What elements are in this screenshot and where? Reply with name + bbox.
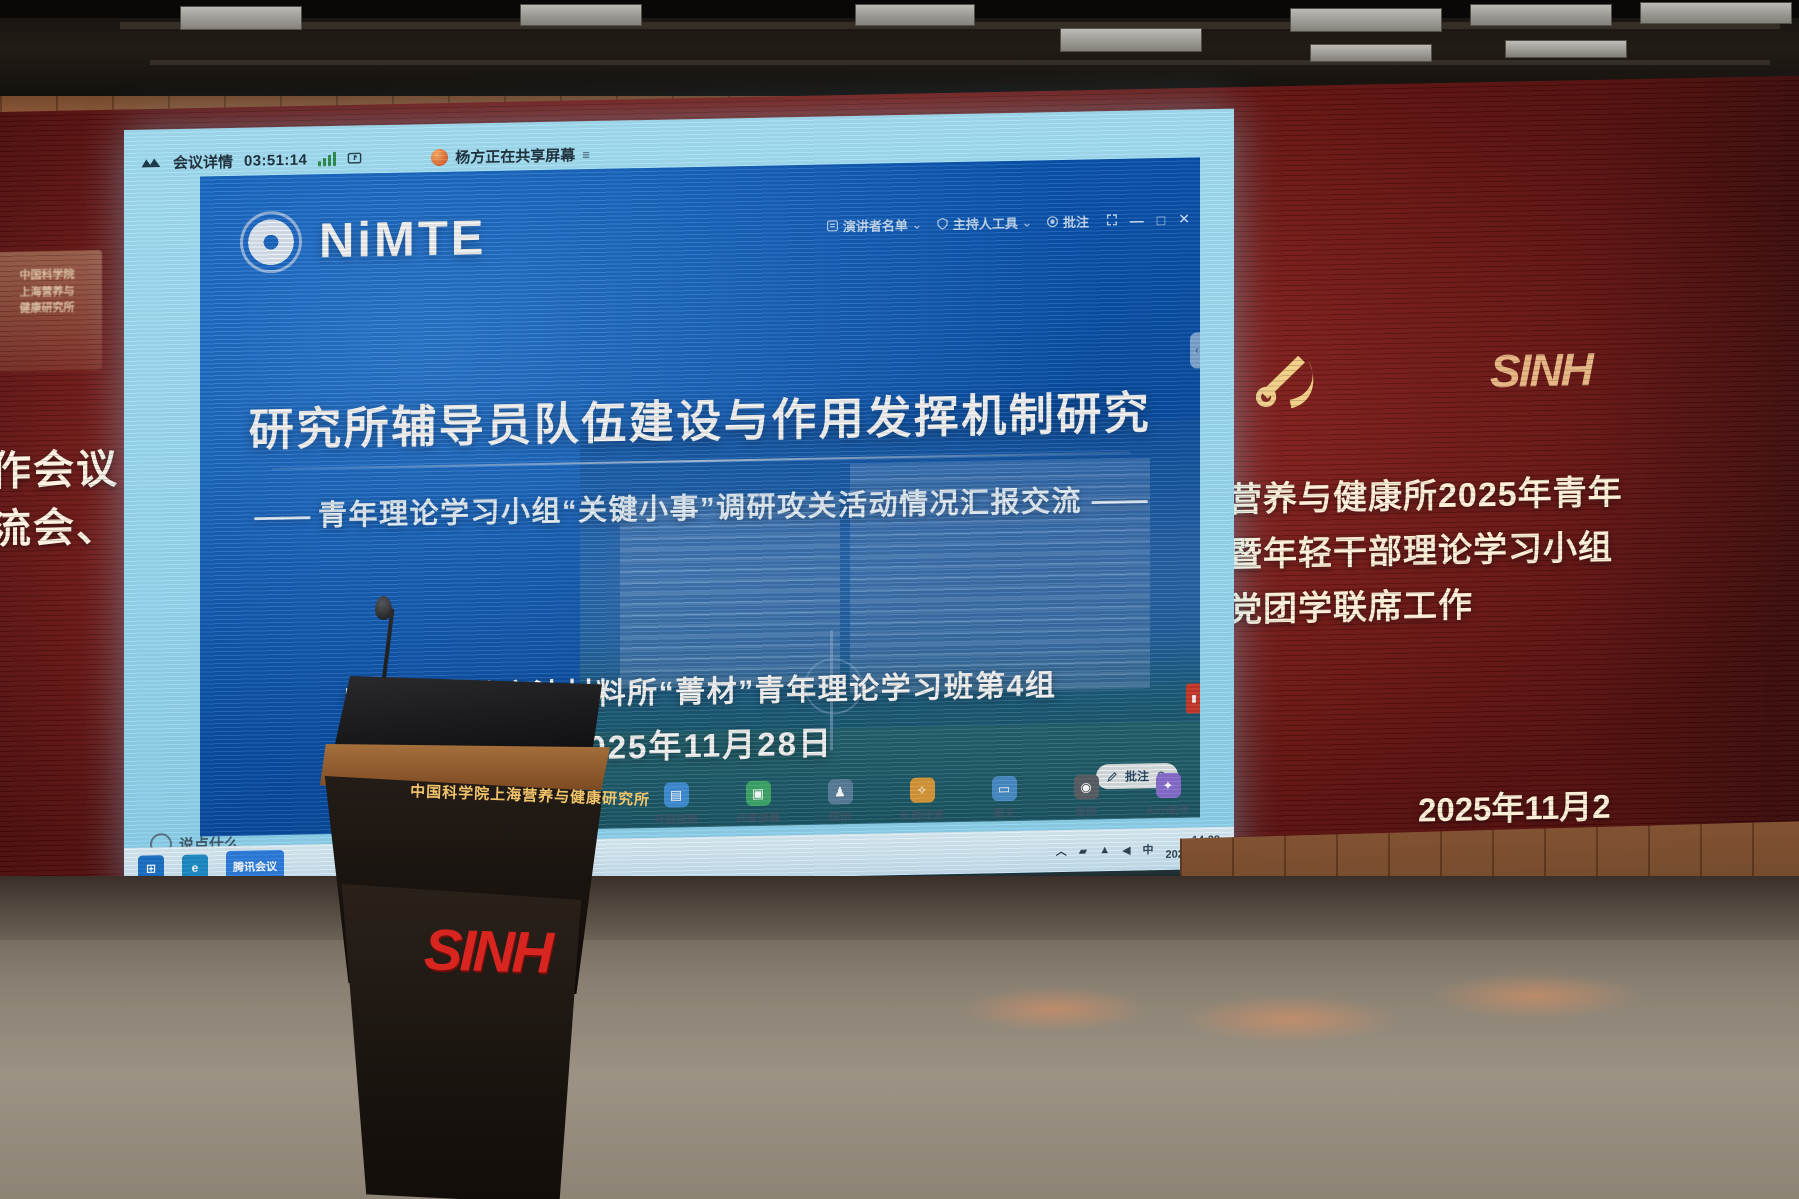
record-icon: ◉ [1074, 774, 1099, 799]
dock-item-video[interactable]: ▤ 开启视频 [654, 782, 698, 828]
share-screen-icon[interactable] [347, 151, 362, 166]
right-banner-line-3: 党团学联席工作 [1228, 572, 1799, 639]
meeting-details-label[interactable]: 会议详情 [173, 150, 233, 172]
subtitle-dash-right: —— [1092, 484, 1146, 517]
ceiling-panel [1060, 28, 1202, 52]
minimize-icon[interactable]: — [1130, 212, 1144, 228]
ceiling-rail [150, 60, 1770, 65]
dock-item-gift[interactable]: ✧ 礼尚往来 [900, 777, 944, 823]
collapse-chevron-icon[interactable]: ‹ [1190, 332, 1200, 368]
volume-icon[interactable]: ◀ [1122, 843, 1130, 856]
ceiling-panel [1290, 8, 1442, 32]
record-icon [1046, 215, 1059, 228]
chevron-down-icon: ⌄ [1022, 215, 1032, 229]
toolbar-label-host-tools: 主持人工具 [953, 213, 1018, 233]
presenter-avatar [431, 148, 448, 165]
nimte-institute-logo [240, 211, 302, 274]
sharing-status-group: 杨方正在共享屏幕 ≡ [431, 144, 592, 168]
maximize-icon[interactable]: □ [1157, 212, 1165, 228]
chevron-up-icon[interactable]: ︿ [1056, 843, 1067, 859]
chat-icon: ▭ [992, 776, 1017, 801]
more-dots-icon[interactable]: ≡ [582, 147, 592, 162]
dock-label-record: 录制 [1075, 803, 1097, 819]
dock-item-share[interactable]: ▣ 共享屏幕 [736, 780, 780, 826]
ceiling-panel [1640, 2, 1792, 24]
toolbar-label-annotate: 批注 [1063, 211, 1089, 230]
toolbar-item-annotate[interactable]: 批注 [1046, 211, 1089, 231]
nimte-brand: NiMTE [240, 207, 486, 274]
mountain-logo-icon [140, 155, 162, 169]
ceiling-panel [520, 4, 642, 26]
dock-label-ai: AI小助手 [1146, 802, 1190, 819]
input-method-icon[interactable]: 中 [1143, 841, 1154, 857]
dock-item-chat[interactable]: ▭ 聊天 [982, 776, 1026, 822]
dock-item-record[interactable]: ◉ 录制 [1064, 774, 1108, 820]
floor [0, 876, 1799, 1199]
ceiling-panel [180, 6, 302, 30]
dock-item-ai[interactable]: ✦ AI小助手 [1146, 773, 1190, 819]
dock-label-chat: 聊天 [993, 805, 1015, 821]
toolbar-item-host-tools[interactable]: 主持人工具 ⌄ [936, 213, 1032, 234]
ceiling-panel [1505, 40, 1627, 58]
handshake-icon: ✧ [910, 777, 935, 802]
people-icon: ♟ [828, 779, 853, 804]
conference-room-photo: 中国科学院上海营养与健康研究所 作会议 流会、 SINH 营养与健康所2025年… [0, 0, 1799, 1199]
sharing-status-text: 杨方正在共享屏幕 [455, 144, 575, 167]
wifi-icon[interactable]: ▲ [1099, 844, 1110, 856]
right-banner-text: 营养与健康所2025年青年 暨年轻干部理论学习小组 党团学联席工作 [1228, 462, 1799, 639]
podium: 中国科学院上海营养与健康研究所 SINH [276, 648, 606, 1199]
floor-light-glow [1180, 994, 1400, 1044]
shield-icon [936, 217, 949, 230]
hammer-sickle-icon [1245, 343, 1331, 421]
video-icon: ▤ [664, 782, 689, 807]
dock-label-video: 开启视频 [654, 811, 698, 828]
ceiling-panel [1310, 44, 1432, 62]
dock-label-members: 成员 [829, 808, 851, 824]
right-sinh-mark: SINH [1490, 342, 1592, 398]
toolbar-item-speaker-list[interactable]: 演讲者名单 ⌄ [826, 215, 922, 236]
window-controls: ⛶ — □ ✕ [1107, 211, 1190, 230]
chevron-down-icon: ⌄ [912, 217, 922, 231]
dock-item-members[interactable]: ♟ 成员 [818, 779, 862, 825]
fullscreen-icon[interactable]: ⛶ [1107, 212, 1117, 229]
meeting-timer: 03:51:14 [244, 151, 307, 169]
toolbar-label-speaker-list: 演讲者名单 [843, 215, 908, 235]
right-banner-date: 2025年11月2 [1418, 780, 1611, 832]
dock-item-apps[interactable]: ▦ 应用 [1228, 771, 1234, 817]
left-emblem-label: 中国科学院上海营养与健康研究所 [0, 250, 102, 334]
left-institute-emblem: 中国科学院上海营养与健康研究所 [0, 250, 102, 372]
signal-bars-icon [318, 152, 336, 166]
floor-light-glow [1430, 972, 1640, 1020]
battery-icon[interactable]: ▰ [1079, 844, 1087, 857]
nimte-wordmark: NiMTE [319, 210, 486, 269]
ai-icon: ✦ [1156, 773, 1181, 798]
screen-icon: ▣ [746, 781, 771, 806]
close-icon[interactable]: ✕ [1178, 211, 1190, 228]
floor-light-glow [960, 986, 1150, 1032]
subtitle-dash-left: —— [254, 500, 308, 533]
ceiling-panel [855, 4, 975, 26]
record-tab-icon[interactable]: ▮ [1186, 683, 1200, 713]
dock-label-share: 共享屏幕 [736, 809, 780, 826]
podium-brand-mark: SINH [423, 916, 551, 987]
ceiling-panel [1470, 4, 1612, 26]
dock-label-gift: 礼尚往来 [900, 806, 944, 823]
speaker-list-icon [826, 219, 839, 232]
slide-toolbar: 演讲者名单 ⌄ 主持人工具 ⌄ 批注 [826, 210, 1190, 236]
